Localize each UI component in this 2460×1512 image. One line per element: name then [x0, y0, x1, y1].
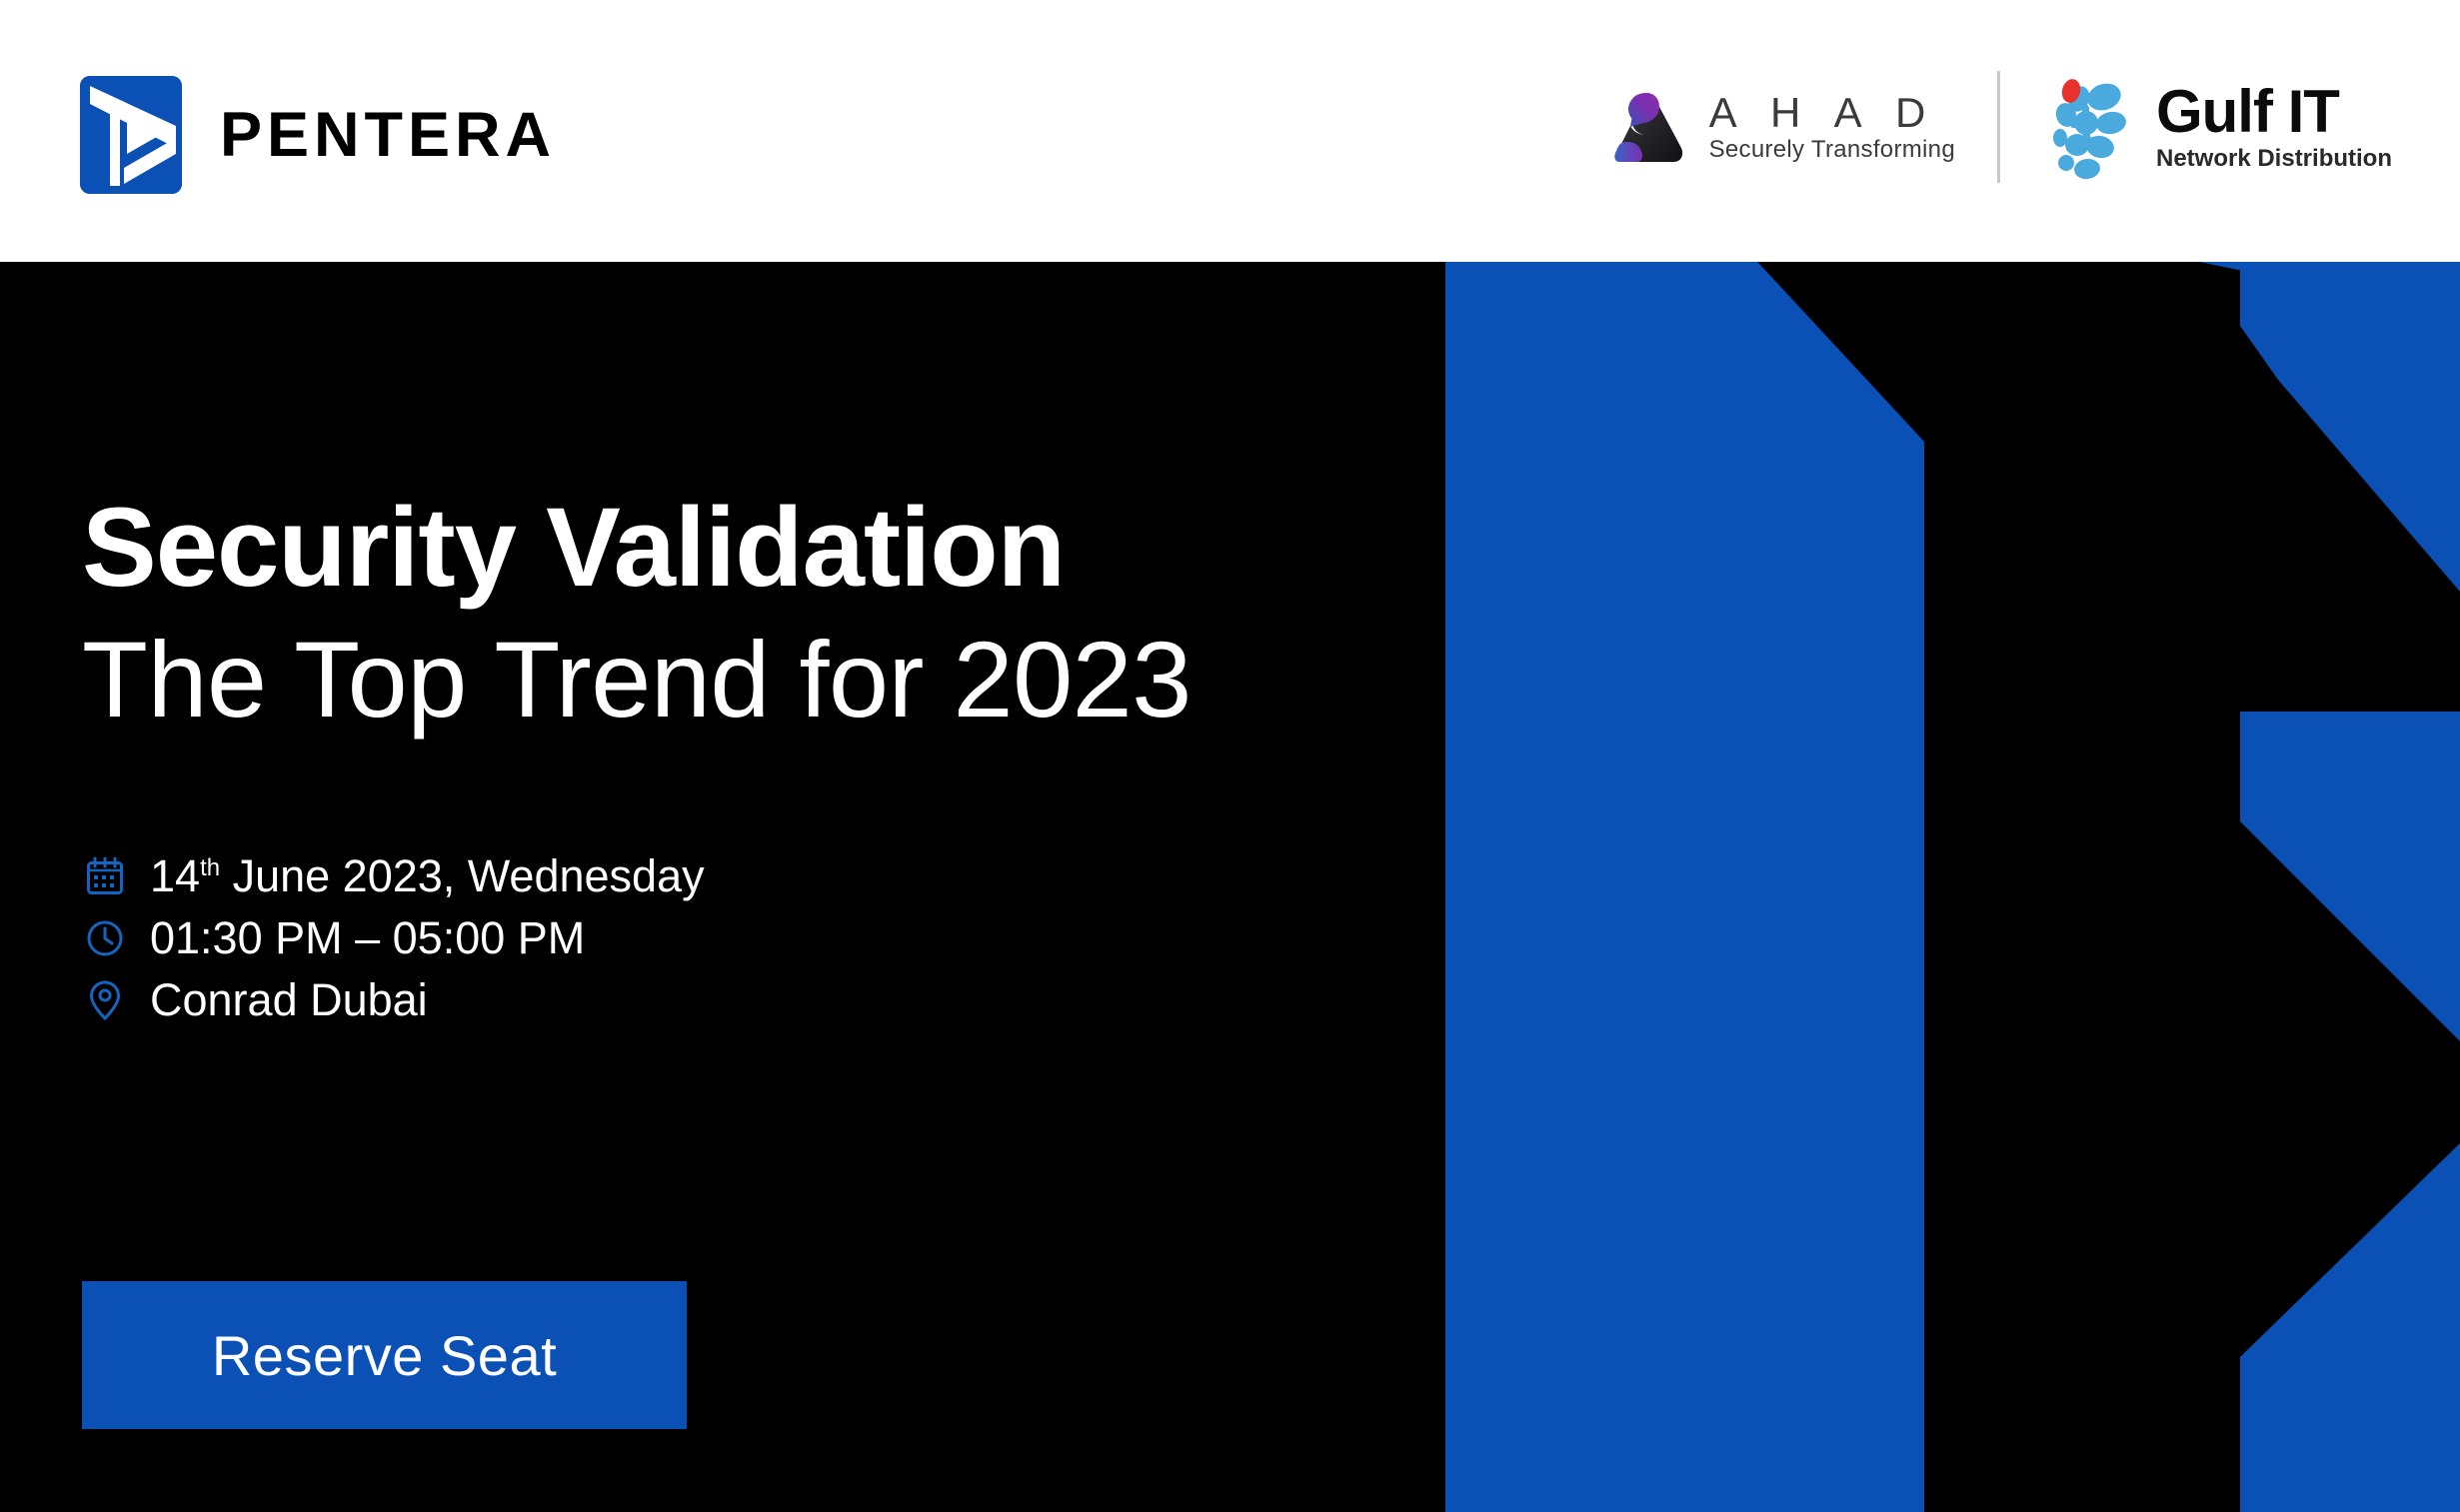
gulf-it-tagline: Network Distribution — [2156, 146, 2392, 172]
event-details: 14th June 2023, Wednesday 01:30 PM – 05:… — [84, 853, 705, 1022]
event-detail-location: Conrad Dubai — [84, 977, 705, 1022]
reserve-seat-button[interactable]: Reserve Seat — [82, 1281, 687, 1429]
location-pin-icon — [84, 979, 126, 1021]
calendar-icon — [84, 855, 126, 897]
page-header: PENTERA — [0, 0, 2460, 262]
event-date-rest: June 2023, Wednesday — [220, 850, 705, 901]
ahad-text-block: A H A D Securely Transforming — [1709, 91, 1955, 163]
reserve-seat-label: Reserve Seat — [212, 1323, 557, 1388]
event-location-text: Conrad Dubai — [150, 977, 428, 1022]
gulf-it-logo[interactable]: Gulf IT Network Distribution — [2042, 75, 2392, 179]
event-date-ordinal: th — [200, 854, 220, 881]
gulf-it-text-block: Gulf IT Network Distribution — [2156, 82, 2392, 172]
page-title: Security Validation The Top Trend for 20… — [82, 492, 1192, 734]
event-date-day: 14 — [150, 850, 200, 901]
event-detail-date: 14th June 2023, Wednesday — [84, 853, 705, 898]
title-line-2: The Top Trend for 2023 — [82, 626, 1192, 734]
clock-icon — [84, 917, 126, 959]
partner-logos: A H A D Securely Transforming — [1605, 52, 2392, 202]
pentera-logo[interactable]: PENTERA — [80, 76, 556, 194]
event-date-text: 14th June 2023, Wednesday — [150, 853, 705, 898]
gulf-it-dot-cluster-icon — [2042, 75, 2138, 179]
event-detail-time: 01:30 PM – 05:00 PM — [84, 915, 705, 960]
pentera-wordmark: PENTERA — [220, 104, 556, 167]
pentera-arrow-mark-icon — [80, 76, 182, 194]
ahad-logo[interactable]: A H A D Securely Transforming — [1605, 86, 1955, 168]
hero-section: Security Validation The Top Trend for 20… — [0, 262, 2460, 1512]
ahad-tagline: Securely Transforming — [1709, 137, 1955, 163]
partner-divider — [1997, 71, 2000, 183]
pentera-mark-background-graphic — [1412, 262, 2460, 1512]
title-line-1: Security Validation — [82, 492, 1192, 604]
event-time-text: 01:30 PM – 05:00 PM — [150, 915, 585, 960]
ahad-name: A H A D — [1709, 91, 1955, 135]
gulf-it-name: Gulf IT — [2156, 82, 2339, 142]
ahad-triangle-mark-icon — [1605, 86, 1687, 168]
